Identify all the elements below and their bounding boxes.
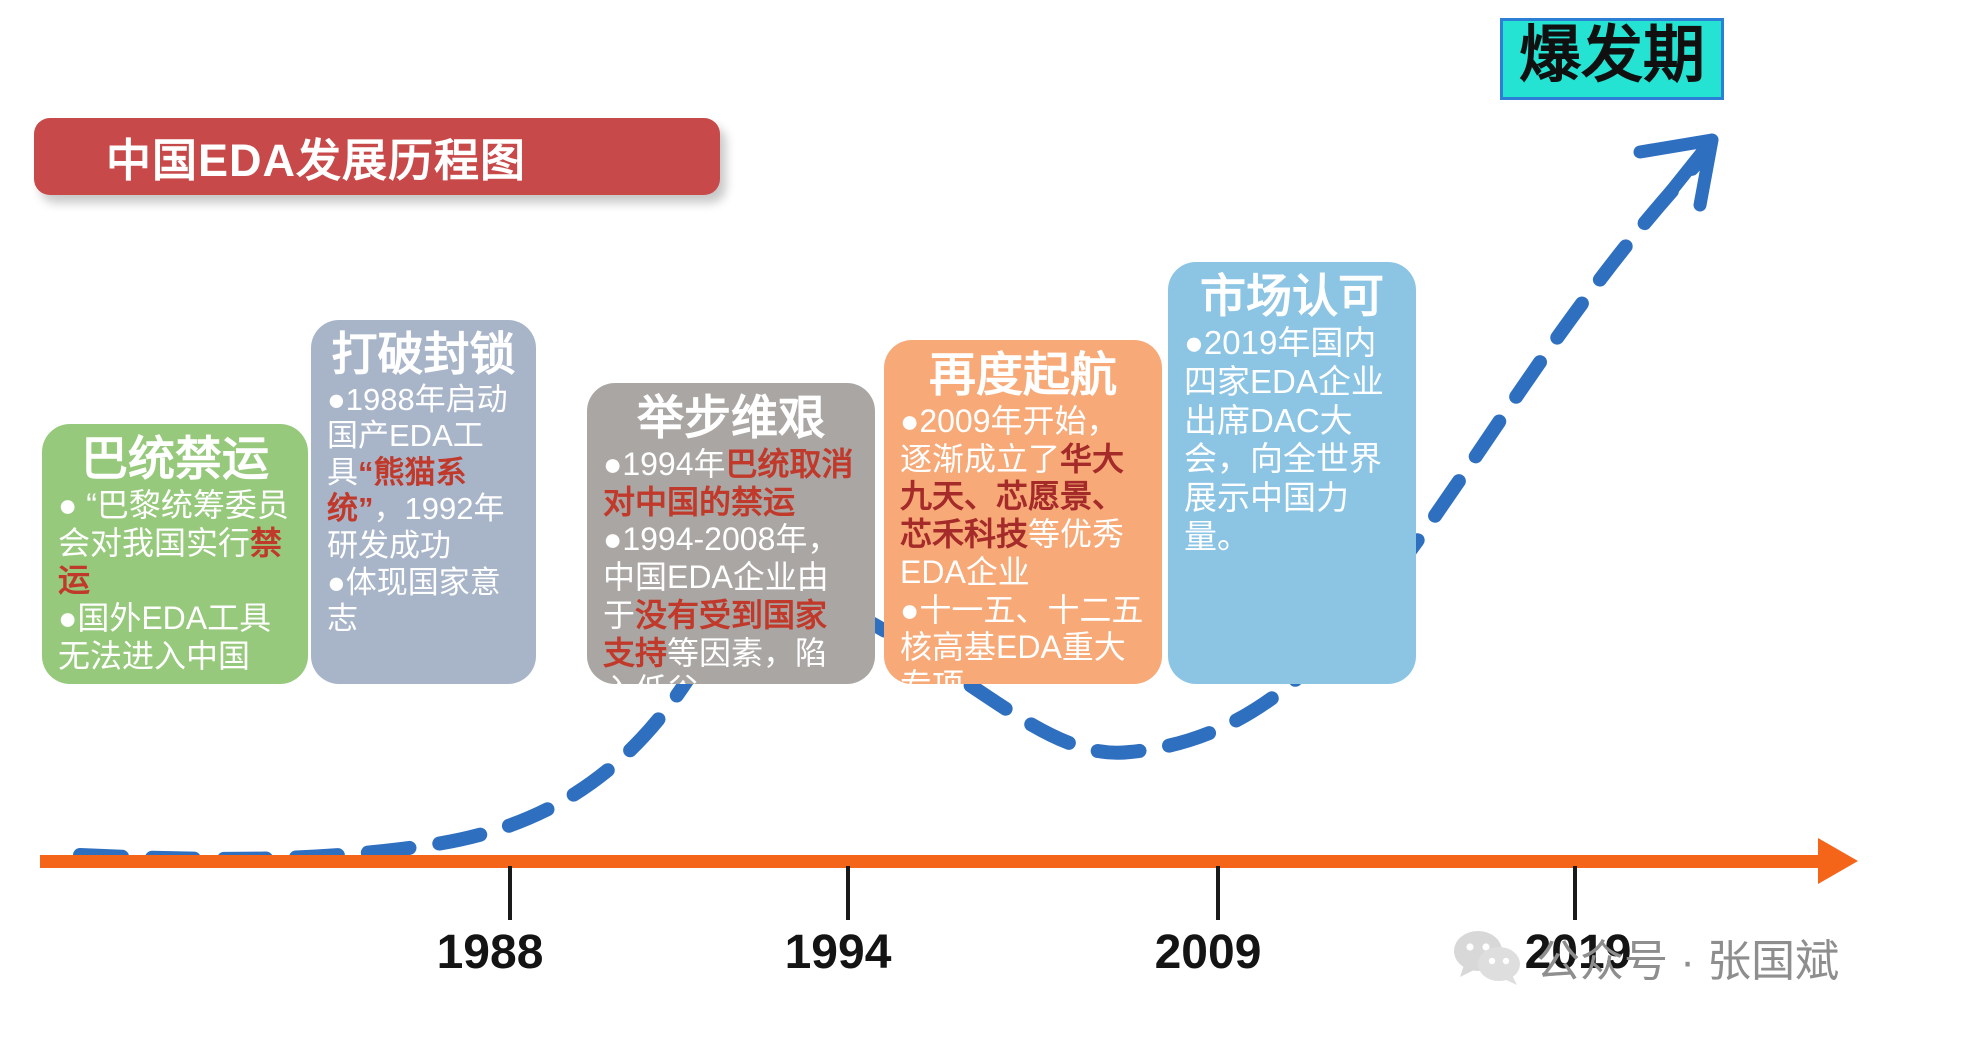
card-line: ●十一五、十二五核高基EDA重大专项 — [900, 592, 1143, 685]
timeline-axis — [40, 855, 1822, 868]
card-line: ●2019年国内四家EDA企业出席DAC大会，向全世界展示中国力量。 — [1184, 324, 1384, 556]
stage-card-breakthrough: 打破封锁 ●1988年启动国产EDA工具“熊猫系统”，1992年研发成功 ●体现… — [311, 320, 536, 684]
timeline-tick — [846, 866, 850, 920]
explosion-phase-label: 爆发期 — [1500, 18, 1724, 100]
card-heading: 市场认可 — [1184, 272, 1400, 322]
card-body: ● “巴黎统筹委员会对我国实行禁运 ●国外EDA工具无法进入中国 — [58, 487, 292, 676]
timeline-tick — [1216, 866, 1220, 920]
timeline-year: 1994 — [785, 925, 892, 980]
card-body: ●1994年巴统取消对中国的禁运 ●1994-2008年，中国EDA企业由于没有… — [603, 446, 859, 684]
timeline-arrow-icon — [1818, 838, 1858, 884]
explosion-phase-text: 爆发期 — [1519, 21, 1705, 90]
stage-card-relaunch: 再度起航 ●2009年开始，逐渐成立了华大九天、芯愿景、芯禾科技等优秀EDA企业… — [884, 340, 1162, 684]
page-title: 中国EDA发展历程图 — [34, 118, 720, 195]
page-title-text: 中国EDA发展历程图 — [106, 124, 526, 189]
card-body: ●1988年启动国产EDA工具“熊猫系统”，1992年研发成功 ●体现国家意志 — [327, 382, 520, 638]
card-line: ●国外EDA工具无法进入中国 — [58, 600, 271, 674]
timeline-year: 1988 — [437, 925, 544, 980]
card-line: ●体现国家意志 — [327, 565, 501, 637]
card-heading: 巴统禁运 — [58, 434, 292, 485]
card-heading: 举步维艰 — [603, 393, 859, 444]
card-body: ●2019年国内四家EDA企业出席DAC大会，向全世界展示中国力量。 — [1184, 324, 1400, 558]
timeline-year: 2009 — [1155, 925, 1262, 980]
timeline-tick — [1573, 866, 1577, 920]
stage-card-embargo: 巴统禁运 ● “巴黎统筹委员会对我国实行禁运 ●国外EDA工具无法进入中国 — [42, 424, 308, 684]
card-line: ●1994年 — [603, 446, 726, 482]
watermark-text: 公众号 · 张国斌 — [1536, 925, 1839, 989]
card-body: ●2009年开始，逐渐成立了华大九天、芯愿景、芯禾科技等优秀EDA企业 ●十一五… — [900, 403, 1146, 684]
infographic-canvas: 中国EDA发展历程图 爆发期 巴统禁运 ● “巴黎统筹委员会对我国实行禁运 ●国… — [0, 0, 1974, 1046]
card-heading: 打破封锁 — [327, 330, 520, 380]
watermark: 公众号 · 张国斌 — [1452, 925, 1839, 989]
stage-card-market-recognition: 市场认可 ●2019年国内四家EDA企业出席DAC大会，向全世界展示中国力量。 — [1168, 262, 1416, 684]
card-heading: 再度起航 — [900, 350, 1146, 401]
stage-card-struggle: 举步维艰 ●1994年巴统取消对中国的禁运 ●1994-2008年，中国EDA企… — [587, 383, 875, 684]
wechat-icon — [1452, 929, 1522, 985]
timeline-tick — [508, 866, 512, 920]
